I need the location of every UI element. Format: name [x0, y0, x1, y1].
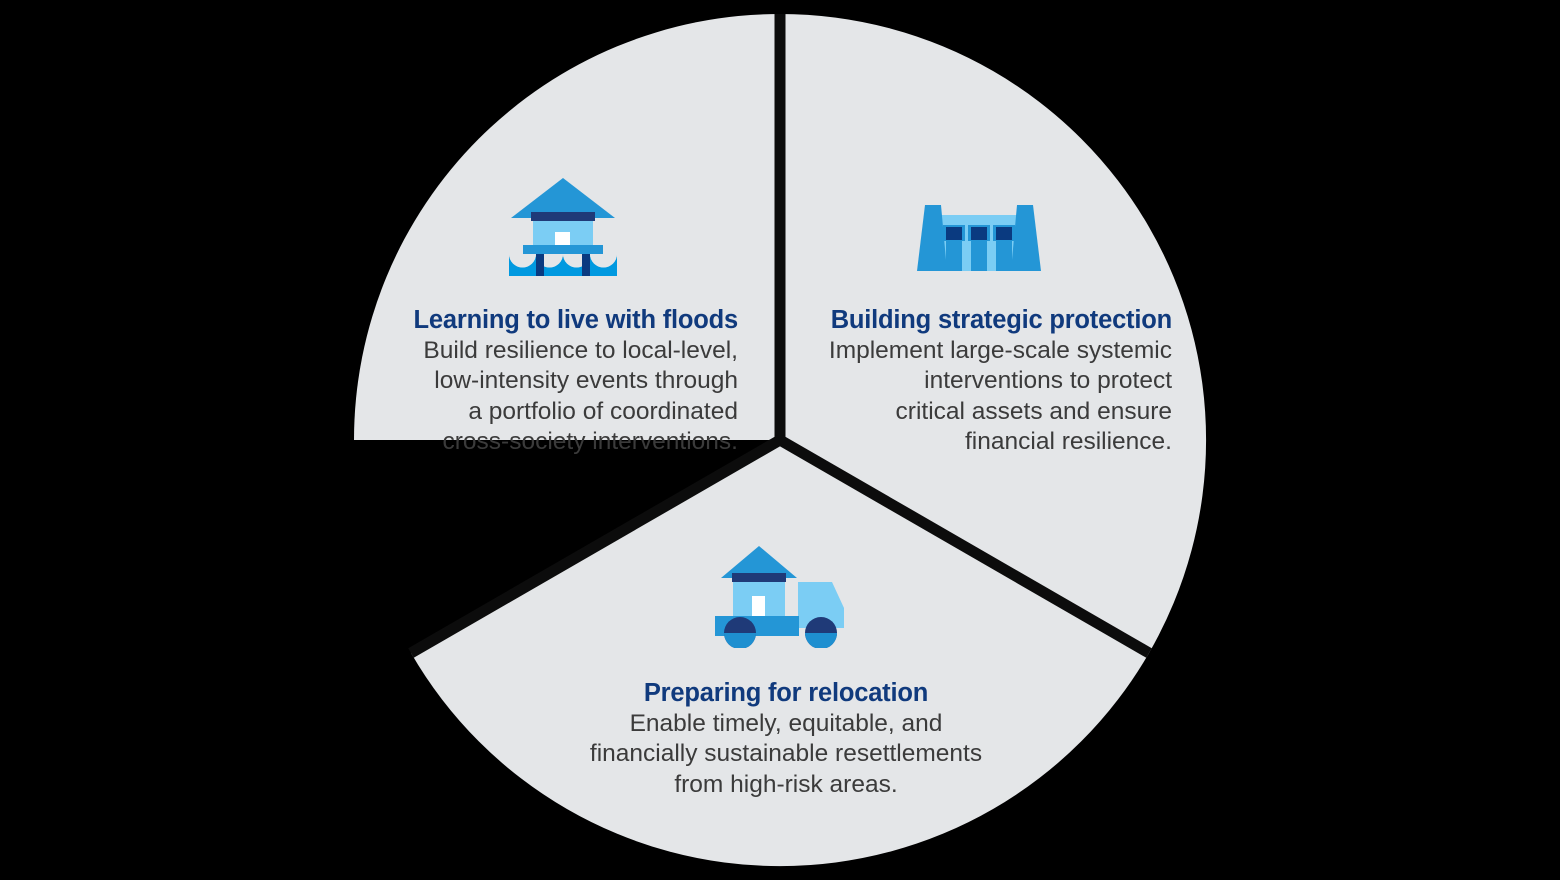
dam-gate-1 — [946, 227, 962, 240]
diagram-canvas: Learning to live with floods Build resil… — [0, 0, 1560, 880]
stilt-post-left — [536, 254, 544, 276]
dam-gate-3 — [996, 227, 1012, 240]
dam-buttress-right — [1011, 205, 1041, 271]
dam-gate-2 — [971, 227, 987, 240]
segment-description: Implement large-scale systemic intervent… — [800, 336, 1172, 457]
segment-label-learning-to-live-with-floods: Learning to live with floods Build resil… — [376, 305, 738, 457]
stilt-post-right — [582, 254, 590, 276]
truck-wheel-front-lower — [805, 633, 837, 648]
segment-title: Learning to live with floods — [376, 305, 738, 335]
segment-title: Building strategic protection — [800, 305, 1172, 335]
house-roof-band — [732, 573, 786, 582]
segment-description: Build resilience to local-level, low-int… — [376, 336, 738, 457]
segment-description: Enable timely, equitable, and financiall… — [555, 709, 1017, 800]
roof-band — [531, 212, 595, 221]
house-on-truck-icon — [710, 538, 855, 648]
segment-label-preparing-for-relocation: Preparing for relocation Enable timely, … — [555, 678, 1017, 800]
dam-icon — [917, 201, 1041, 271]
platform-shape — [523, 245, 603, 254]
truck-wheel-rear-lower — [724, 633, 756, 648]
segment-label-building-strategic-protection: Building strategic protection Implement … — [800, 305, 1172, 457]
flooded-house-icon — [503, 172, 623, 276]
segment-title: Preparing for relocation — [555, 678, 1017, 708]
dam-buttress-left — [917, 205, 947, 271]
